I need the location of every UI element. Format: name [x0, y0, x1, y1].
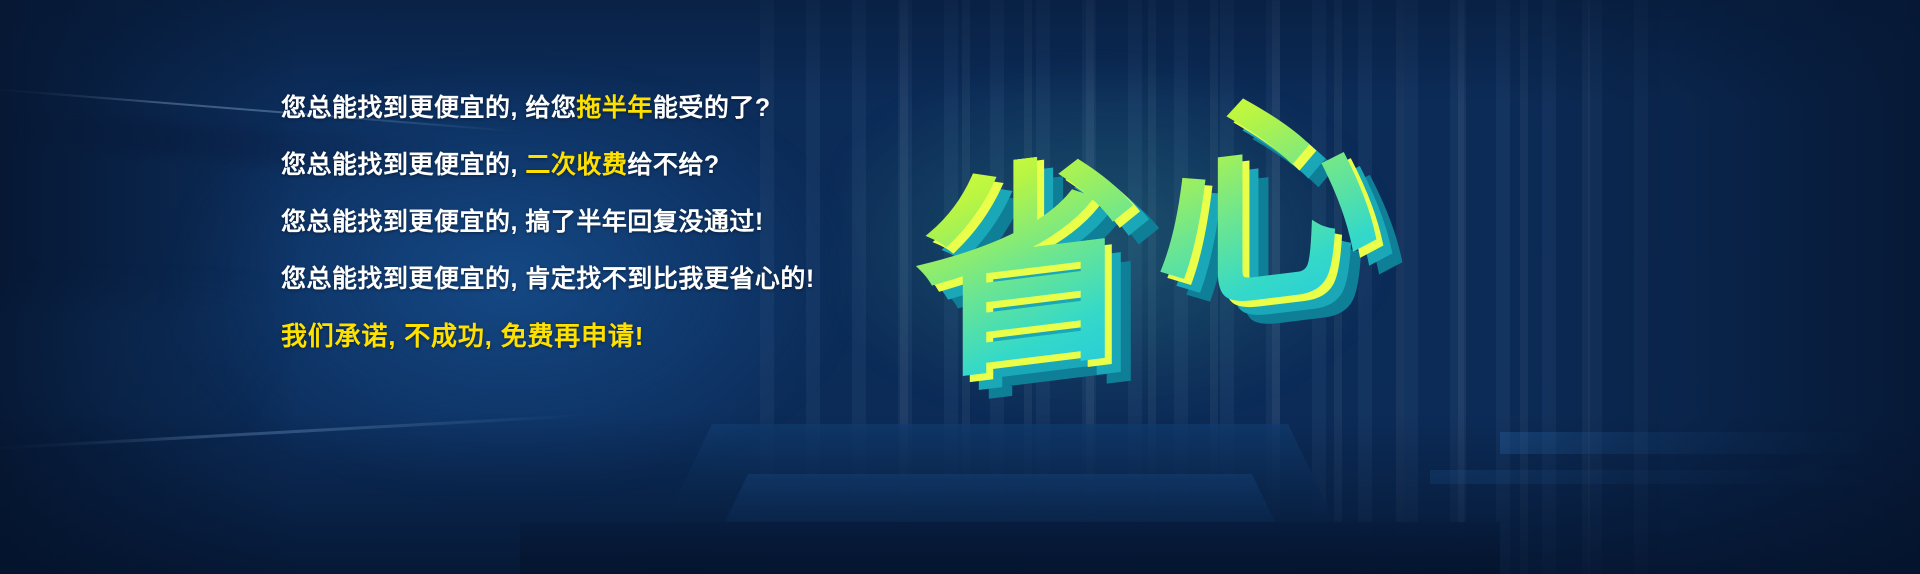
copy-line-1: 您总能找到更便宜的, 给您拖半年能受的了?: [281, 80, 921, 137]
copy-line-2-highlight: 二次收费: [525, 151, 627, 179]
headline-char-1-face: 省: [915, 144, 1140, 397]
copy-line-4-prefix: 您总能找到更便宜的, 肯定找不到比我更省心的!: [281, 265, 815, 293]
copy-promise-line: 我们承诺, 不成功, 免费再申请!: [281, 308, 921, 365]
headline-char-2-face: 心: [1155, 78, 1380, 331]
copy-line-1-suffix: 能受的了?: [653, 94, 771, 122]
copy-line-3-prefix: 您总能找到更便宜的, 搞了半年回复没通过!: [281, 208, 764, 236]
copy-block: 您总能找到更便宜的, 给您拖半年能受的了? 您总能找到更便宜的, 二次收费给不给…: [281, 80, 921, 365]
copy-line-3: 您总能找到更便宜的, 搞了半年回复没通过!: [281, 194, 921, 251]
copy-line-1-prefix: 您总能找到更便宜的, 给您: [281, 94, 576, 122]
promo-banner: 您总能找到更便宜的, 给您拖半年能受的了? 您总能找到更便宜的, 二次收费给不给…: [0, 0, 1920, 574]
headline-3d: 省 省 省 省 心 心 心 心: [905, 62, 1375, 392]
copy-line-1-highlight: 拖半年: [576, 94, 653, 122]
copy-line-2-prefix: 您总能找到更便宜的,: [281, 151, 525, 179]
copy-line-2-suffix: 给不给?: [627, 151, 719, 179]
copy-line-2: 您总能找到更便宜的, 二次收费给不给?: [281, 137, 921, 194]
copy-line-4: 您总能找到更便宜的, 肯定找不到比我更省心的!: [281, 251, 921, 308]
